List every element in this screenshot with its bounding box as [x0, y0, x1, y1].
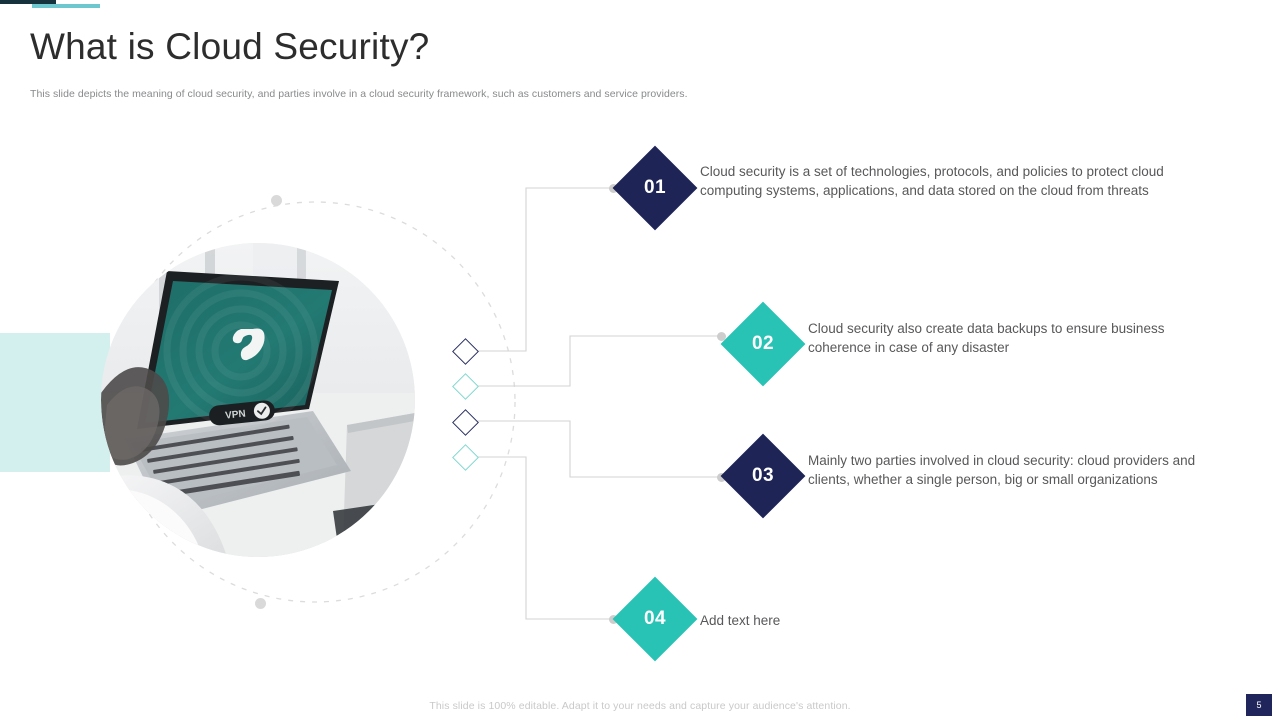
- svg-text:VPN: VPN: [225, 409, 247, 422]
- step-number-03: 03: [752, 465, 774, 487]
- accent-bar-teal: [32, 4, 100, 8]
- step-badge-02[interactable]: 02: [721, 302, 806, 387]
- arc-dot-top: [271, 195, 282, 206]
- step-number-04: 04: [644, 608, 666, 630]
- page-title: What is Cloud Security?: [30, 24, 429, 70]
- slide-canvas: What is Cloud Security? This slide depic…: [0, 0, 1280, 720]
- page-number-badge: 5: [1246, 694, 1272, 716]
- step-text-03: Mainly two parties involved in cloud sec…: [808, 451, 1198, 489]
- step-text-02: Cloud security also create data backups …: [808, 319, 1188, 357]
- step-text-01: Cloud security is a set of technologies,…: [700, 162, 1200, 200]
- step-badge-04[interactable]: 04: [613, 577, 698, 662]
- step-badge-03[interactable]: 03: [721, 434, 806, 519]
- arc-dot-bottom: [255, 598, 266, 609]
- step-text-04[interactable]: Add text here: [700, 611, 1000, 630]
- step-number-01: 01: [644, 177, 666, 199]
- step-badge-01[interactable]: 01: [613, 146, 698, 231]
- step-number-02: 02: [752, 333, 774, 355]
- laptop-vpn-photo: VPN: [101, 243, 415, 557]
- footer-note: This slide is 100% editable. Adapt it to…: [0, 700, 1280, 712]
- decorative-teal-block: [0, 333, 110, 472]
- page-subtitle: This slide depicts the meaning of cloud …: [30, 87, 688, 102]
